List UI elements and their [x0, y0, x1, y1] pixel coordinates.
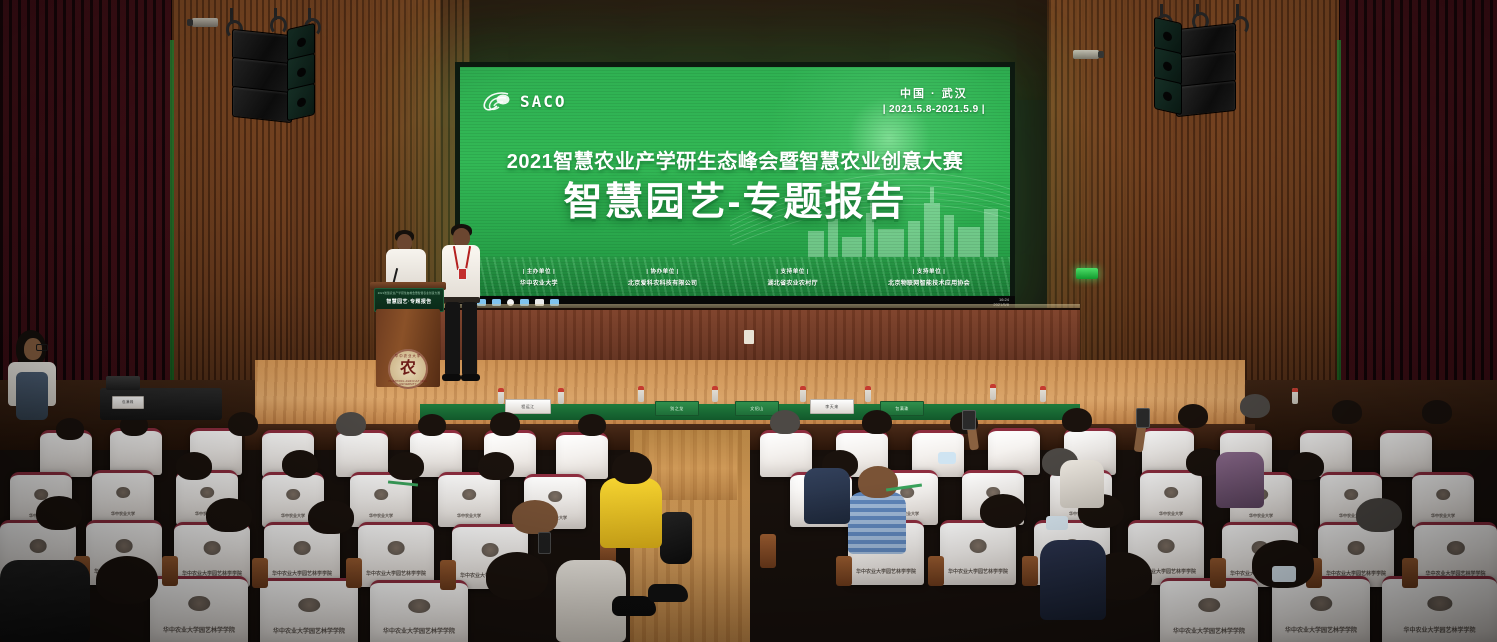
- line-array-speaker-right: [1140, 4, 1250, 126]
- organizer-unit: |协办单位| 北京爱科农科技有限公司: [628, 267, 697, 287]
- staff-woman: [8, 330, 58, 440]
- audience-head: [1240, 394, 1270, 418]
- audience-head: [206, 498, 252, 532]
- face-mask-icon: [1272, 566, 1296, 582]
- seat-armrest: [1402, 558, 1418, 588]
- organizer-org: 北京物联网智能技术应用协会: [888, 278, 970, 287]
- name-placard: 李天来: [810, 399, 854, 414]
- audience-head: [770, 410, 800, 434]
- attendee-dark-shirt: [1040, 540, 1106, 620]
- event-title: 智慧园艺-专题报告: [460, 171, 1010, 227]
- audience-head: [1288, 452, 1324, 480]
- name-placard: 程运江: [505, 399, 551, 414]
- attendee-white-shirt: [1060, 460, 1104, 508]
- exit-sign-icon: [1076, 268, 1098, 279]
- audience-seat: 华中农业大学: [1140, 470, 1202, 525]
- led-screen: SACO 中国 · 武汉 |2021.5.8-2021.5.9| 2021智慧农…: [455, 62, 1015, 310]
- leaf-wave-logo-icon: [480, 91, 510, 111]
- seat-armrest: [252, 558, 268, 588]
- security-camera-icon: [1073, 50, 1099, 59]
- audience-head: [1422, 400, 1452, 424]
- audience-seat: [556, 432, 608, 479]
- organizer-unit: |主办单位| 华中农业大学: [520, 267, 558, 287]
- audience-seat: 华中农业大学: [1412, 472, 1474, 527]
- event-dates: 2021.5.8-2021.5.9: [889, 104, 979, 115]
- audience-seat: 华中农业大学园艺林学学院: [1382, 576, 1497, 642]
- seat-armrest: [162, 556, 178, 586]
- lectern: 2021智慧农业产学研生态峰会暨智慧农业创意大赛 智慧园艺·专题报告 华中农业大…: [370, 282, 446, 387]
- seat-armrest: [1022, 556, 1038, 586]
- event-meta: 中国 · 武汉 |2021.5.8-2021.5.9|: [880, 85, 988, 115]
- audience-head: [486, 552, 548, 600]
- water-bottle: [638, 386, 644, 402]
- audience-seat: 华中农业大学: [92, 470, 154, 525]
- badge-icon: [458, 268, 467, 280]
- audience-head: [336, 412, 366, 436]
- lectern-display-line2: 智慧园艺·专题报告: [375, 299, 443, 305]
- attendee-yellow-shirt: [600, 478, 662, 548]
- curtain-right: [1337, 0, 1497, 430]
- audience-head: [308, 500, 354, 534]
- audience-seat: [1380, 430, 1432, 477]
- audience-seat: 华中农业大学园艺林学学院: [1160, 578, 1258, 642]
- audience-seat: [336, 430, 388, 477]
- seat-armrest: [1210, 558, 1226, 588]
- smartphone-icon: [1136, 408, 1150, 428]
- attendee-navy-shirt: [804, 468, 850, 524]
- security-camera-icon: [192, 18, 218, 27]
- conference-hall-photo: SACO 中国 · 武汉 |2021.5.8-2021.5.9| 2021智慧农…: [0, 0, 1497, 642]
- organizer-role: |主办单位|: [520, 267, 558, 275]
- seat-armrest: [346, 558, 362, 588]
- seat-armrest: [760, 534, 776, 568]
- smartphone-icon: [962, 410, 976, 430]
- emblem-bottom-text: HUAZHONG AGRICULTURAL UNIVERSITY: [388, 380, 428, 386]
- university-emblem: 华中农业大学 农 HUAZHONG AGRICULTURAL UNIVERSIT…: [388, 349, 428, 389]
- audience-head: [858, 466, 898, 498]
- audience-head: [1332, 400, 1362, 424]
- audience-head: [862, 410, 892, 434]
- audience-head: [282, 450, 318, 478]
- audience-head: [512, 500, 558, 534]
- audience-head: [176, 452, 212, 480]
- wall-accent-strip-left: [170, 40, 174, 400]
- water-bottle: [800, 386, 806, 402]
- attendee-striped-shirt: [848, 492, 906, 554]
- audience-seat: 华中农业大学园艺林学学院: [940, 520, 1016, 585]
- organizer-unit: |支持单位| 北京物联网智能技术应用协会: [888, 267, 970, 287]
- standing-host: [440, 224, 482, 384]
- audience-seat: [988, 428, 1040, 475]
- audience-head: [418, 414, 446, 436]
- emblem-top-text: 华中农业大学: [388, 353, 428, 358]
- audience-head: [96, 556, 158, 604]
- name-placard: 包满珠: [112, 396, 144, 409]
- water-bottle: [1040, 386, 1046, 402]
- organizer-role: |支持单位|: [768, 267, 818, 275]
- seat-armrest: [836, 556, 852, 586]
- face-mask-icon: [938, 452, 956, 464]
- audience-seat: 华中农业大学园艺林学学院: [260, 578, 358, 642]
- smartphone-icon: [538, 532, 551, 554]
- water-bottle: [1292, 388, 1298, 404]
- event-dates-wrap: |2021.5.8-2021.5.9|: [880, 104, 988, 115]
- water-bottle: [990, 384, 996, 400]
- wall-accent-strip-right: [1337, 40, 1341, 400]
- brand-logo: SACO: [480, 91, 567, 111]
- audience-head: [612, 452, 652, 484]
- audience-head: [578, 414, 606, 436]
- date-bracket-left: |: [880, 104, 889, 115]
- audience-head: [56, 418, 84, 440]
- name-placard: 别之龙: [655, 401, 699, 416]
- eyeglasses-icon: [36, 344, 48, 351]
- audience-seat: 华中农业大学: [350, 472, 412, 527]
- audience-head: [228, 412, 258, 436]
- denim-apron: [16, 372, 48, 420]
- audience-head: [490, 412, 520, 436]
- audience-head: [1178, 404, 1208, 428]
- organizer-role: |协办单位|: [628, 267, 697, 275]
- seat-armrest: [440, 560, 456, 590]
- audience-seat: 华中农业大学园艺林学学院: [358, 522, 434, 587]
- date-bracket-right: |: [979, 104, 988, 115]
- audience-head: [1356, 498, 1402, 532]
- water-bottle: [498, 388, 504, 404]
- face-mask-icon: [1046, 516, 1068, 530]
- shoe: [648, 584, 688, 602]
- organizer-units: |主办单位| 华中农业大学 |协办单位| 北京爱科农科技有限公司 |支持单位| …: [520, 267, 970, 287]
- equipment-box: [106, 376, 140, 390]
- seat-armrest: [928, 556, 944, 586]
- organizer-unit: |支持单位| 湖北省农业农村厅: [768, 267, 818, 287]
- organizer-role: |支持单位|: [888, 267, 970, 275]
- audience-head: [980, 494, 1026, 528]
- screen-content: SACO 中国 · 武汉 |2021.5.8-2021.5.9| 2021智慧农…: [460, 67, 1010, 305]
- line-array-speaker-left: [218, 8, 328, 130]
- lectern-display-line1: 2021智慧农业产学研生态峰会暨智慧农业创意大赛: [375, 292, 443, 295]
- event-city: 中国 · 武汉: [880, 85, 988, 101]
- audience-head: [478, 452, 514, 480]
- water-bottle: [865, 386, 871, 402]
- audience-head: [36, 496, 82, 530]
- water-bottle: [558, 388, 564, 404]
- organizer-org: 湖北省农业农村厅: [768, 278, 818, 287]
- audience-seat: 华中农业大学: [438, 472, 500, 527]
- event-subtitle: 2021智慧农业产学研生态峰会暨智慧农业创意大赛: [460, 145, 1010, 174]
- audience-head: [388, 452, 424, 480]
- backpack: [660, 512, 692, 564]
- brand-logo-text: SACO: [520, 92, 567, 111]
- lectern-body: 华中农业大学 农 HUAZHONG AGRICULTURAL UNIVERSIT…: [376, 309, 440, 387]
- wall-outlet-plate: [744, 330, 754, 344]
- organizer-org: 北京爱科农科技有限公司: [628, 278, 697, 287]
- water-bottle: [712, 386, 718, 402]
- attendee-purple-shirt: [1216, 452, 1264, 508]
- audience-seat: [760, 430, 812, 477]
- emblem-glyph: 农: [400, 361, 416, 377]
- organizer-org: 华中农业大学: [520, 278, 558, 287]
- audience-head: [1062, 408, 1092, 432]
- attendee-dark-shirt: [0, 560, 90, 642]
